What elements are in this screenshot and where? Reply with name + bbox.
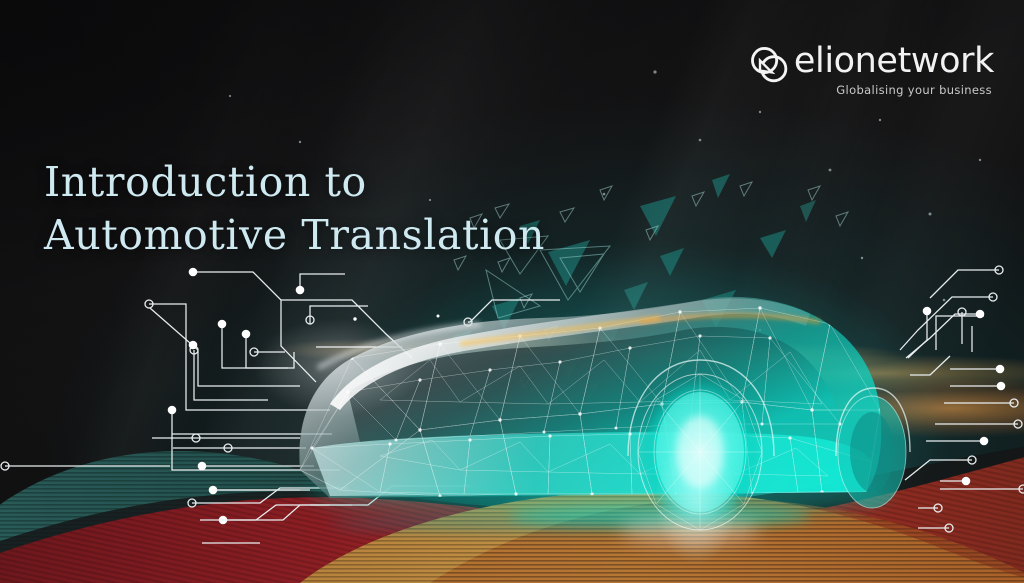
car-cabin	[348, 327, 840, 442]
logo-wordmark: elionetwork	[794, 41, 994, 81]
elionetwork-rings-icon	[749, 44, 793, 88]
title-line-2: Automotive Translation	[44, 209, 545, 262]
car-sill	[312, 432, 872, 496]
car-rear-wheel	[638, 374, 762, 530]
circuit-board-traces-right	[900, 266, 1024, 532]
page-title: Introduction to Automotive Translation	[44, 156, 545, 262]
brand-logo[interactable]: elionetwork Globalising your business	[749, 41, 994, 97]
car-body	[299, 297, 881, 498]
car-front-wheel	[838, 396, 906, 508]
logo-tagline: Globalising your business	[836, 83, 992, 97]
title-line-1: Introduction to	[44, 156, 545, 209]
car-roof-highlight	[330, 298, 810, 410]
circuit-board-traces-left	[1, 268, 560, 525]
banner-canvas: Introduction to Automotive Translation e…	[0, 0, 1024, 583]
circuit-board-traces-bottom	[200, 486, 470, 543]
